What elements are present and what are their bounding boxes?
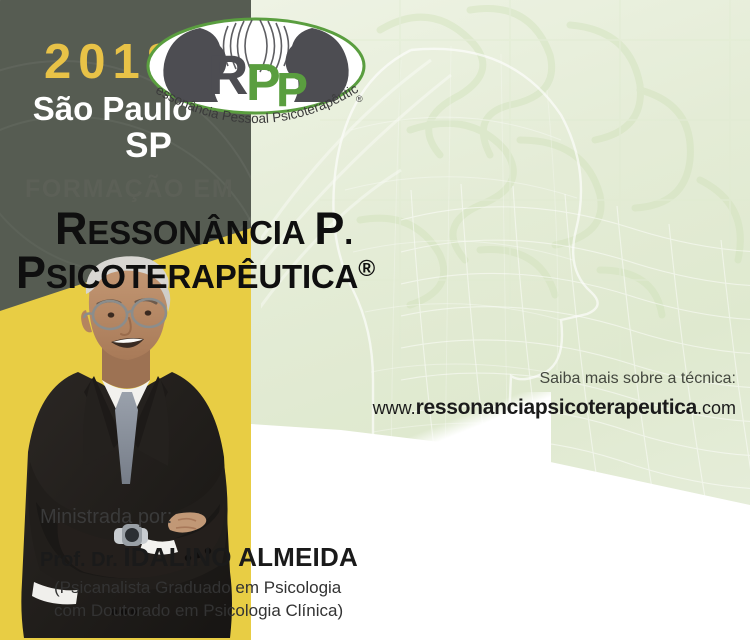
presenter-name: IDALINO ALMEIDA	[123, 542, 358, 572]
title-rest-ressonancia: ESSONÂNCIA	[87, 214, 305, 251]
eyebrow-heading: FORMAÇÃO EM	[25, 175, 234, 204]
logo-letter-r: R	[208, 43, 248, 106]
poster-canvas: 2018 São Paulo SP	[0, 0, 750, 640]
title-cap-r: R	[55, 203, 87, 254]
presenter-label: Ministrada por:	[40, 506, 172, 529]
rpp-logo: R P P Ressonância Pessoal Psicoterapêuti…	[142, 14, 371, 142]
title-period: .	[344, 214, 353, 251]
main-title: RESSONÂNCIA P. PSICOTERAPÊUTICA®	[6, 207, 499, 294]
url-prefix: www.	[373, 398, 416, 418]
url-tld: .com	[697, 398, 736, 418]
title-cap-p2: P	[16, 247, 46, 298]
website-caption: Saiba mais sobre a técnica:	[539, 370, 736, 388]
presenter-credential-line-2: com Doutorado em Psicologia Clínica)	[54, 601, 343, 621]
title-rest-psicoterapeutica: SICOTERAPÊUTICA	[46, 258, 358, 295]
presenter-honorific: Prof. Dr.	[40, 549, 123, 571]
presenter-name-row: Prof. Dr. IDALINO ALMEIDA	[40, 542, 358, 573]
url-domain: ressonanciapsicoterapeutica	[416, 396, 697, 419]
presenter-credential-line-1: (Psicanalista Graduado em Psicologia	[54, 578, 341, 598]
logo-registered-mark: ®	[356, 94, 363, 104]
main-title-line-1: RESSONÂNCIA P.	[6, 207, 499, 251]
title-cap-p: P	[314, 203, 344, 254]
title-registered-mark: ®	[358, 255, 375, 281]
website-url[interactable]: www.ressonanciapsicoterapeutica.com	[373, 396, 736, 420]
main-title-line-2: PSICOTERAPÊUTICA®	[6, 251, 499, 295]
